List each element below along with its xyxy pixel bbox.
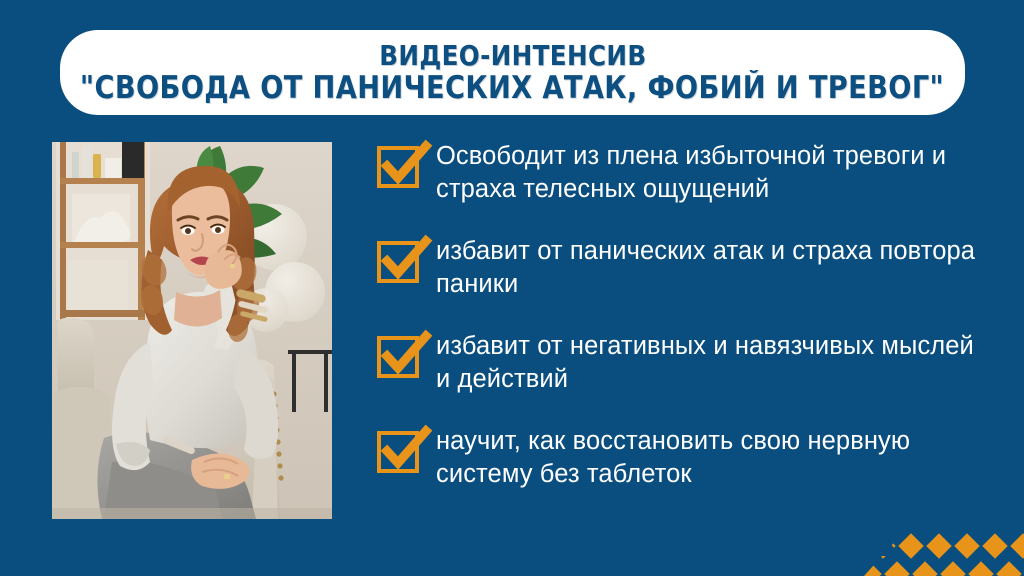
checkbox-checked-icon [376,239,428,285]
list-item-label: избавит от панических атак и страха повт… [436,235,976,301]
title-plate: ВИДЕО-ИНТЕНСИВ "СВОБОДА ОТ ПАНИЧЕСКИХ АТ… [60,30,965,115]
presenter-portrait-photo [52,142,332,519]
checkbox-checked-icon [376,144,428,190]
title-line-primary: ВИДЕО-ИНТЕНСИВ [379,42,646,70]
list-item: избавит от панических атак и страха повт… [376,235,976,301]
title-line-secondary: "СВОБОДА ОТ ПАНИЧЕСКИХ АТАК, ФОБИЙ И ТРЕ… [80,73,944,104]
list-item-label: избавит от негативных и навязчивых мысле… [436,330,976,396]
list-item-label: Освободит из плена избыточной тревоги и … [436,140,976,206]
list-item: научит, как восстановить свою нервную си… [376,425,976,491]
diamond-pattern-decoration [864,518,1024,576]
checkbox-checked-icon [376,429,428,475]
list-item-label: научит, как восстановить свою нервную си… [436,425,976,491]
benefits-list: Освободит из плена избыточной тревоги и … [376,140,976,491]
list-item: Освободит из плена избыточной тревоги и … [376,140,976,206]
slide-canvas: ВИДЕО-ИНТЕНСИВ "СВОБОДА ОТ ПАНИЧЕСКИХ АТ… [0,0,1024,576]
portrait-illustration [52,142,332,519]
list-item: избавит от негативных и навязчивых мысле… [376,330,976,396]
checkbox-checked-icon [376,334,428,380]
diamond-pattern-icon [864,518,1024,576]
